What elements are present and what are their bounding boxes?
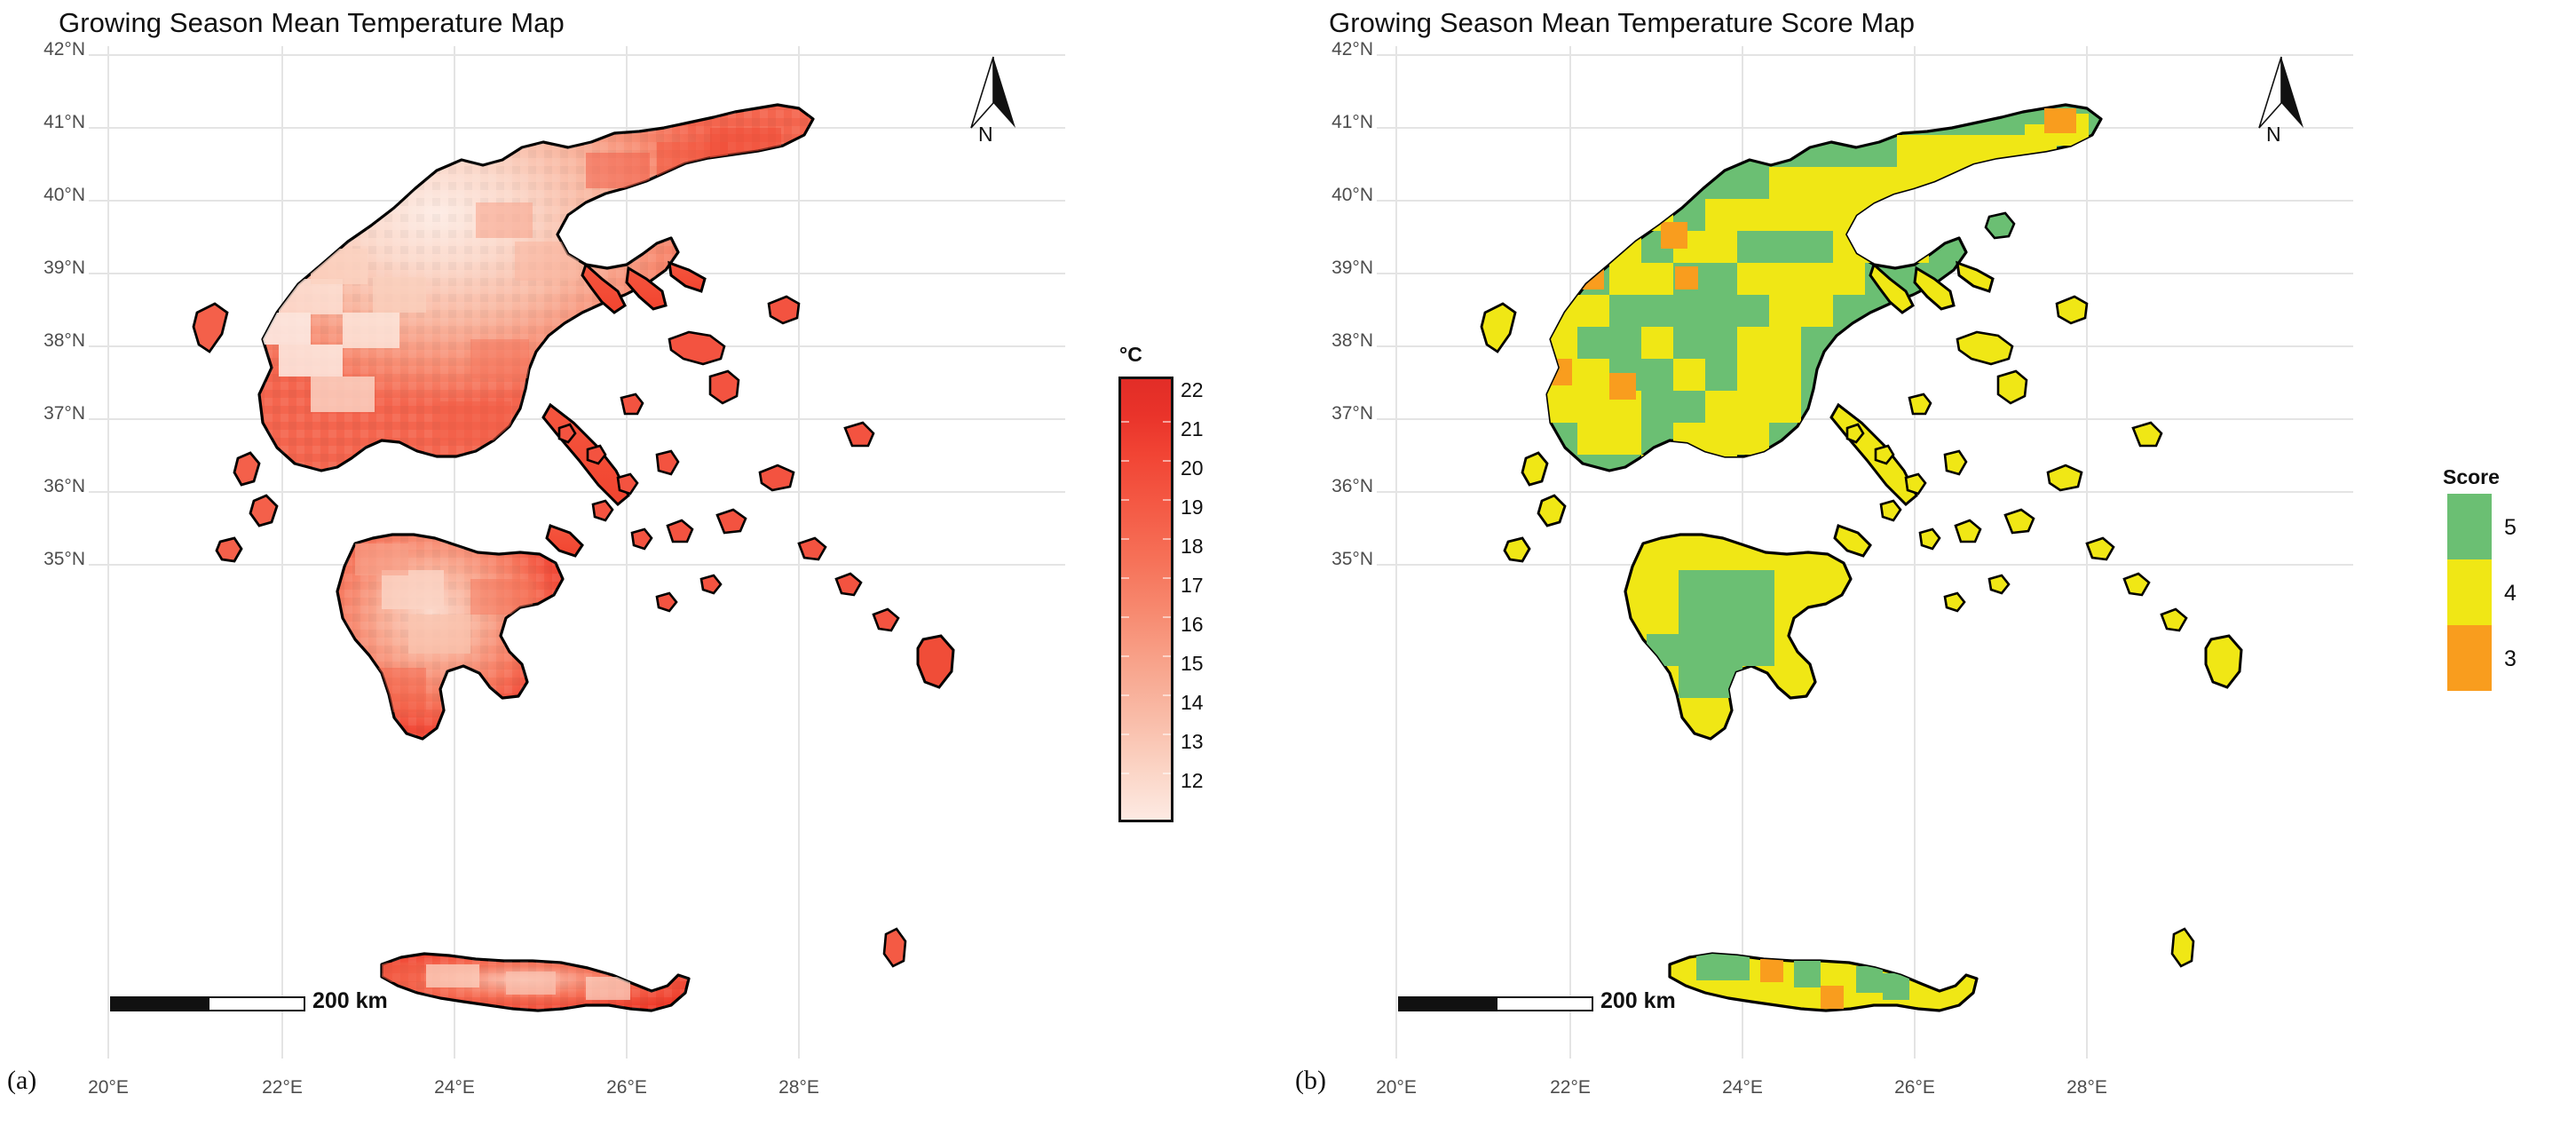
scale-bar-empty-segment — [208, 996, 305, 1011]
panel-a-lon-20: 20°E — [73, 1077, 144, 1098]
colorbar-a: °C 22 21 20 19 18 17 16 15 14 13 — [1118, 343, 1278, 840]
score-label-3: 3 — [2504, 646, 2517, 672]
rhodes-island-a — [918, 636, 953, 687]
panel-a: Growing Season Mean Temperature Map (a) … — [0, 0, 1288, 1134]
panel-b-lat-35: 35°N — [1288, 549, 1373, 570]
panel-a-lat-38: 38°N — [0, 330, 85, 352]
north-arrow-icon — [2254, 55, 2309, 131]
panel-b-title: Growing Season Mean Temperature Score Ma… — [1329, 7, 1915, 39]
figure-root: Growing Season Mean Temperature Map (a) … — [0, 0, 2576, 1134]
greece-mainland-b — [1545, 105, 2101, 487]
score-swatch-4 — [2447, 559, 2492, 625]
score-swatch-3 — [2447, 625, 2492, 691]
colorbar-tick-17: 17 — [1181, 574, 1204, 598]
karpathos-island-a — [884, 929, 905, 966]
rhodes-island-b — [2206, 636, 2241, 687]
panel-b-tag: (b) — [1295, 1066, 1326, 1096]
karpathos-island-b — [2172, 929, 2193, 966]
panel-b-lat-38: 38°N — [1288, 330, 1373, 352]
panel-a-lat-41: 41°N — [0, 112, 85, 133]
panel-b-lat-40: 40°N — [1288, 185, 1373, 206]
scale-bar-label-a: 200 km — [312, 988, 388, 1014]
panel-b-lon-28: 28°E — [2051, 1077, 2122, 1098]
panel-a-tag: (a) — [7, 1066, 36, 1096]
panel-a-lat-37: 37°N — [0, 403, 85, 424]
colorbar-tick-20: 20 — [1181, 456, 1204, 480]
panel-a-lat-40: 40°N — [0, 185, 85, 206]
panel-a-title: Growing Season Mean Temperature Map — [59, 7, 565, 39]
panel-a-lat-35: 35°N — [0, 549, 85, 570]
colorbar-tick-21: 21 — [1181, 417, 1204, 441]
panel-b-lat-42: 42°N — [1288, 39, 1373, 60]
panel-a-lat-36: 36°N — [0, 476, 85, 497]
colorbar-tick-15: 15 — [1181, 652, 1204, 676]
panel-a-plot — [89, 46, 1065, 1059]
north-label-a: N — [978, 123, 993, 147]
panel-a-lon-24: 24°E — [419, 1077, 490, 1098]
north-label-b: N — [2266, 123, 2281, 147]
panel-b-lat-37: 37°N — [1288, 403, 1373, 424]
colorbar-tick-22: 22 — [1181, 378, 1204, 402]
panel-a-lat-42: 42°N — [0, 39, 85, 60]
score-swatch-5 — [2447, 494, 2492, 559]
panel-a-lon-22: 22°E — [247, 1077, 318, 1098]
north-arrow-icon — [966, 55, 1021, 131]
panel-b: Growing Season Mean Temperature Score Ma… — [1288, 0, 2576, 1134]
score-legend-title: Score — [2443, 465, 2500, 489]
peloponnese-b — [1625, 535, 1851, 739]
north-arrow-b: N — [2254, 55, 2309, 153]
scale-bar-filled-segment — [110, 996, 208, 1011]
colorbar-tick-16: 16 — [1181, 613, 1204, 637]
score-legend: Score 5 4 3 — [2442, 465, 2575, 732]
colorbar-tick-18: 18 — [1181, 535, 1204, 559]
crete-island-b — [1670, 954, 1977, 1011]
colorbar-tick-12: 12 — [1181, 769, 1204, 793]
panel-b-lat-41: 41°N — [1288, 112, 1373, 133]
attica-b — [1835, 526, 1870, 556]
panel-b-plot — [1377, 46, 2353, 1059]
panel-b-lon-24: 24°E — [1707, 1077, 1778, 1098]
panel-a-lat-39: 39°N — [0, 258, 85, 279]
panel-a-lon-28: 28°E — [763, 1077, 834, 1098]
attica-a — [547, 526, 582, 556]
map-a-svg — [89, 46, 1065, 1059]
score-label-4: 4 — [2504, 581, 2517, 607]
thasos-island-b — [1986, 213, 2014, 238]
colorbar-tick-14: 14 — [1181, 691, 1204, 715]
score-label-5: 5 — [2504, 515, 2517, 541]
panel-b-lon-20: 20°E — [1361, 1077, 1432, 1098]
panel-b-lon-22: 22°E — [1535, 1077, 1606, 1098]
map-b-svg — [1377, 46, 2353, 1059]
colorbar-title: °C — [1119, 343, 1142, 367]
colorbar-tick-19: 19 — [1181, 496, 1204, 519]
scale-bar-empty-segment — [1496, 996, 1593, 1011]
scale-bar-filled-segment — [1398, 996, 1496, 1011]
scale-bar-label-b: 200 km — [1600, 988, 1676, 1014]
colorbar-gradient — [1118, 377, 1173, 822]
panel-b-lat-39: 39°N — [1288, 258, 1373, 279]
north-arrow-a: N — [966, 55, 1021, 153]
panel-b-lon-26: 26°E — [1879, 1077, 1950, 1098]
panel-b-lat-36: 36°N — [1288, 476, 1373, 497]
colorbar-tick-13: 13 — [1181, 730, 1204, 754]
panel-a-lon-26: 26°E — [591, 1077, 662, 1098]
